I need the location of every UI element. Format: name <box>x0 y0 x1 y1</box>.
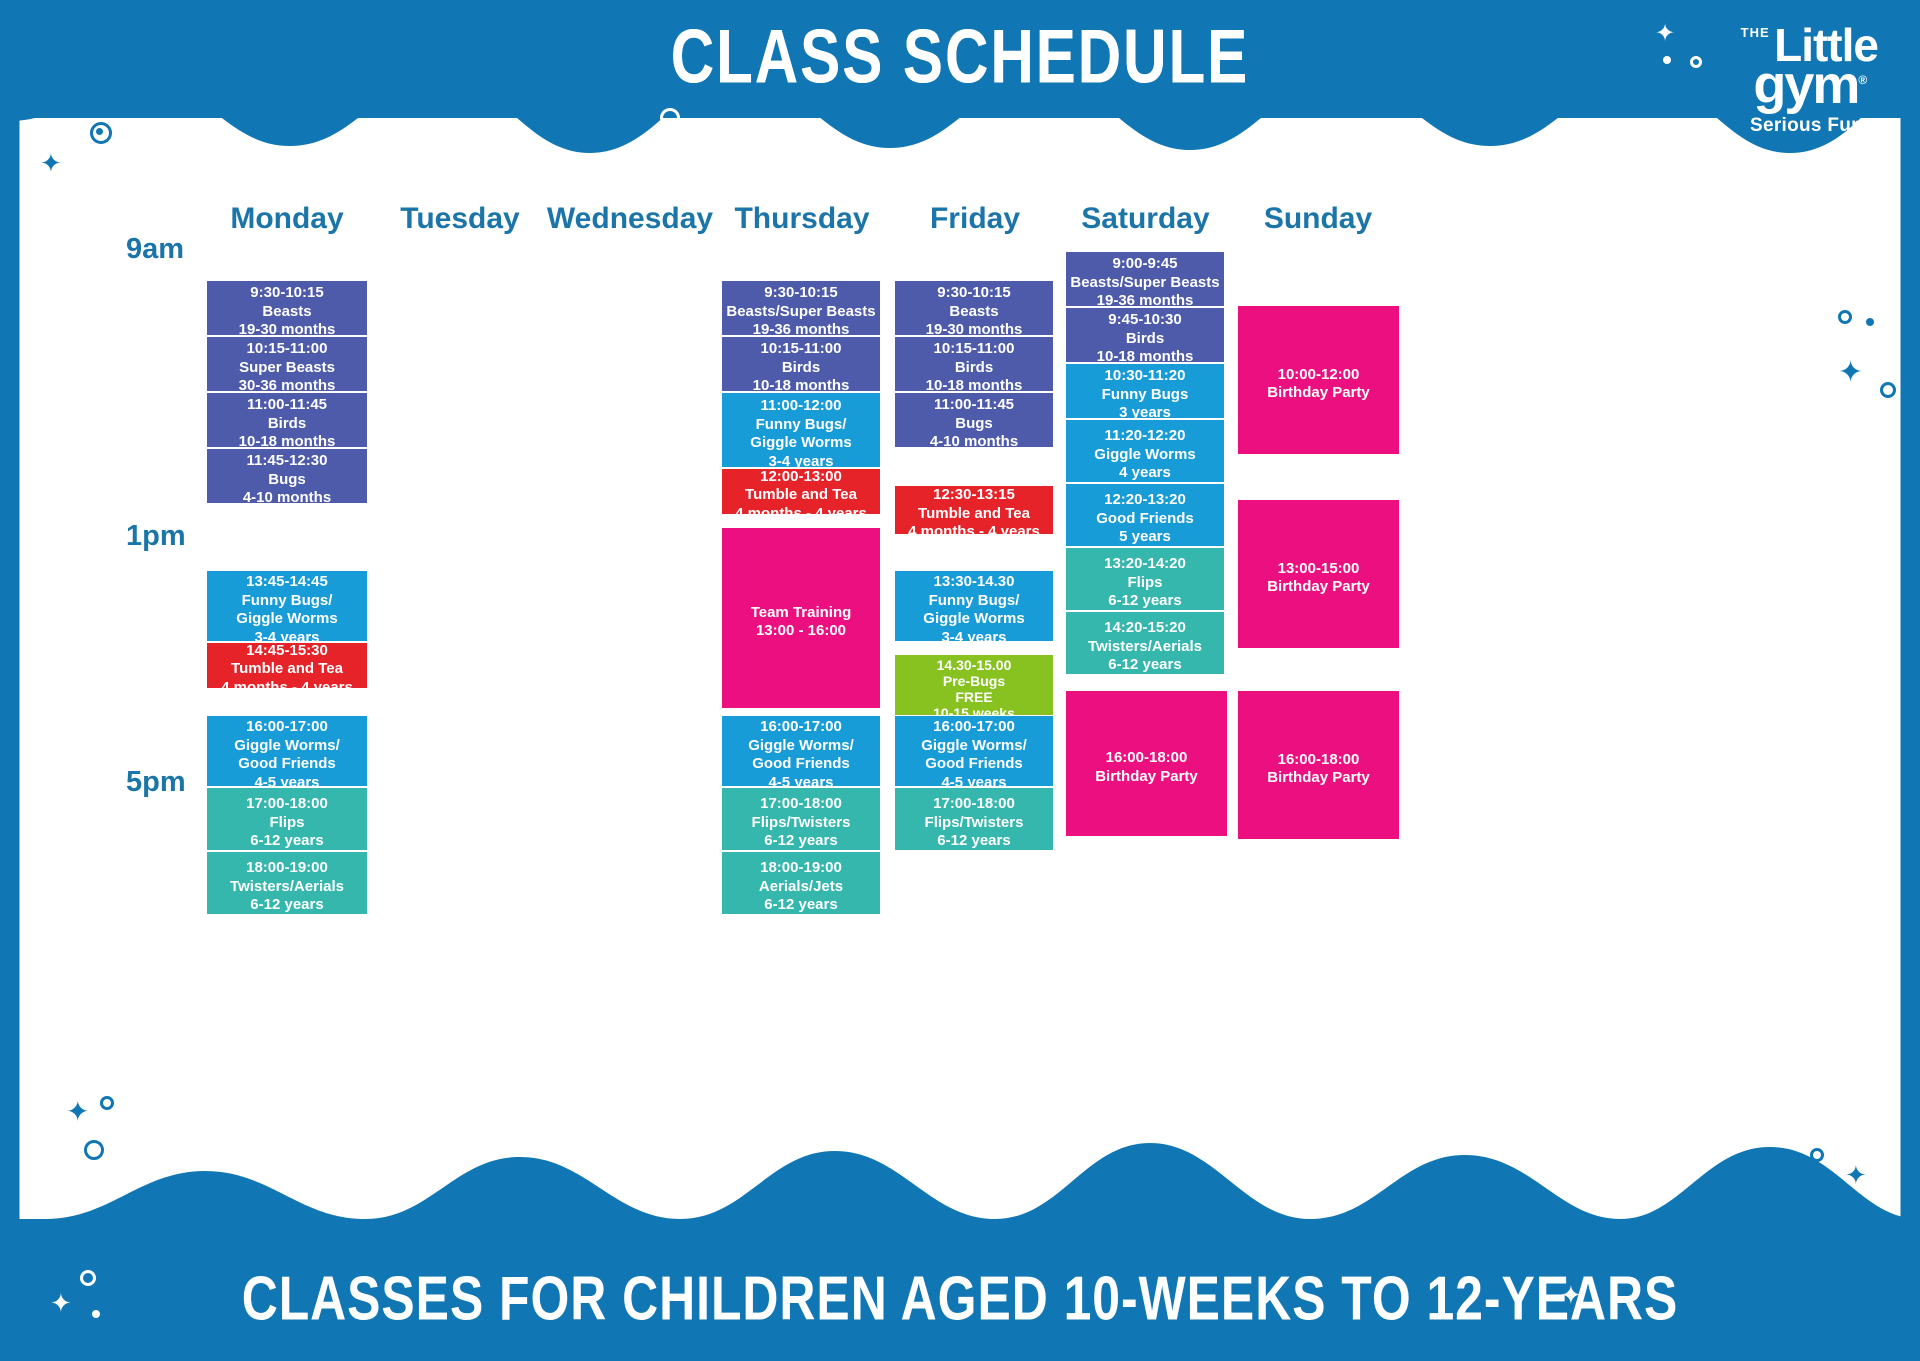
class-block[interactable]: 14.30-15.00 Pre-Bugs FREE 10-15 weeks <box>895 655 1053 715</box>
class-time: 14:20-15:20 <box>1104 619 1186 638</box>
class-name: Flips <box>269 814 304 833</box>
class-free-label: FREE <box>955 689 992 705</box>
class-time: 10:00-12:00 <box>1278 366 1360 385</box>
class-block[interactable]: 17:00-18:00 Flips 6-12 years <box>207 788 367 850</box>
little-gym-logo: THE Little gym® Serious Fun. <box>1741 22 1878 135</box>
class-time: 10:15-11:00 <box>934 340 1015 359</box>
class-block[interactable]: 13:20-14:20 Flips 6-12 years <box>1066 548 1224 610</box>
class-time: 16:00-17:00 <box>760 718 842 737</box>
class-block[interactable]: 12:00-13:00 Tumble and Tea 4 months - 4 … <box>722 469 880 514</box>
class-name: Beasts/Super Beasts <box>726 303 875 322</box>
class-block[interactable]: 10:30-11:20 Funny Bugs 3 years <box>1066 364 1224 418</box>
day-header-saturday: Saturday <box>1058 202 1233 236</box>
class-time: 16:00-17:00 <box>933 718 1015 737</box>
class-block[interactable]: 16:00-17:00 Giggle Worms/ Good Friends 4… <box>722 716 880 786</box>
class-time: 11:00-11:45 <box>934 396 1014 415</box>
class-time: 9:30-10:15 <box>250 284 323 303</box>
class-time: 13:45-14:45 <box>246 573 328 592</box>
class-ages: 19-36 months <box>1097 292 1194 306</box>
class-ages: 10-18 months <box>753 377 850 391</box>
class-block[interactable]: 11:20-12:20 Giggle Worms 4 years <box>1066 420 1224 482</box>
class-name-2: Good Friends <box>752 755 850 774</box>
day-header-friday: Friday <box>895 202 1055 236</box>
class-name: Good Friends <box>1096 510 1194 529</box>
class-time: 14.30-15.00 <box>937 657 1012 673</box>
class-name: Giggle Worms/ <box>748 737 854 756</box>
class-name: Tumble and Tea <box>231 660 343 679</box>
class-ages: 4 years <box>1119 464 1171 482</box>
day-header-sunday: Sunday <box>1238 202 1398 236</box>
birthday-party-block[interactable]: 16:00-18:00 Birthday Party <box>1066 691 1227 836</box>
class-name: Twisters/Aerials <box>230 878 344 897</box>
class-ages: 6-12 years <box>250 832 323 850</box>
class-block[interactable]: 10:15-11:00 Birds 10-18 months <box>722 337 880 391</box>
class-name: Beasts/Super Beasts <box>1070 274 1219 293</box>
class-ages: 19-30 months <box>239 321 336 335</box>
class-time: 13:30-14.30 <box>934 573 1015 592</box>
class-ages: 4-5 years <box>254 774 319 787</box>
class-ages: 5 years <box>1119 528 1171 546</box>
class-name: Birds <box>268 415 306 434</box>
class-name: Tumble and Tea <box>918 505 1030 524</box>
class-time: 13:00 - 16:00 <box>756 622 846 641</box>
class-time: 16:00-18:00 <box>1278 751 1360 770</box>
class-name: Birthday Party <box>1267 769 1370 788</box>
class-name: Birds <box>1126 330 1164 349</box>
class-time: 16:00-18:00 <box>1106 749 1188 768</box>
class-ages: 6-12 years <box>937 832 1010 850</box>
logo-tagline: Serious Fun. <box>1741 116 1878 135</box>
class-name: Giggle Worms/ <box>921 737 1027 756</box>
class-time: 17:00-18:00 <box>246 795 328 814</box>
class-ages: 3-4 years <box>254 629 319 642</box>
class-name-2: Good Friends <box>925 755 1023 774</box>
class-ages: 6-12 years <box>764 896 837 914</box>
class-name: Pre-Bugs <box>943 673 1005 689</box>
class-name: Birthday Party <box>1095 768 1198 787</box>
class-name: Birthday Party <box>1267 578 1370 597</box>
class-time: 17:00-18:00 <box>933 795 1015 814</box>
class-time: 10:30-11:20 <box>1105 367 1186 386</box>
class-ages: 4 months - 4 years <box>735 505 867 514</box>
class-block[interactable]: 12:30-13:15 Tumble and Tea 4 months - 4 … <box>895 486 1053 534</box>
footer-banner-text: CLASSES FOR CHILDREN AGED 10-WEEKS TO 12… <box>38 1263 1881 1335</box>
class-time: 11:20-12:20 <box>1105 427 1186 446</box>
class-ages: 6-12 years <box>1108 592 1181 610</box>
day-header-wednesday: Wednesday <box>540 202 720 236</box>
class-block[interactable]: 9:45-10:30 Birds 10-18 months <box>1066 308 1224 362</box>
class-name: Bugs <box>268 471 306 490</box>
class-time: 12:20-13:20 <box>1104 491 1186 510</box>
class-block[interactable]: 9:30-10:15 Beasts/Super Beasts 19-36 mon… <box>722 281 880 335</box>
class-ages: 10-18 months <box>1097 348 1194 362</box>
class-time: 11:00-11:45 <box>247 396 327 415</box>
class-block[interactable]: 10:15-11:00 Birds 10-18 months <box>895 337 1053 391</box>
birthday-party-block[interactable]: 10:00-12:00 Birthday Party <box>1238 306 1399 454</box>
class-block[interactable]: 14:20-15:20 Twisters/Aerials 6-12 years <box>1066 612 1224 674</box>
class-time: 9:30-10:15 <box>937 284 1010 303</box>
class-time: 9:30-10:15 <box>764 284 837 303</box>
class-name: Super Beasts <box>239 359 335 378</box>
class-name: Birthday Party <box>1267 384 1370 403</box>
time-marker-1pm: 1pm <box>126 520 246 553</box>
class-name-2: Good Friends <box>238 755 336 774</box>
class-block[interactable]: 9:30-10:15 Beasts 19-30 months <box>207 281 367 335</box>
class-name: Beasts <box>262 303 311 322</box>
schedule-sheet: Monday Tuesday Wednesday Thursday Friday… <box>0 118 1920 1208</box>
class-block[interactable]: 18:00-19:00 Aerials/Jets 6-12 years <box>722 852 880 914</box>
time-marker-9am: 9am <box>126 233 246 266</box>
class-ages: 4-5 years <box>768 774 833 787</box>
class-time: 9:00-9:45 <box>1112 255 1177 274</box>
day-header-tuesday: Tuesday <box>380 202 540 236</box>
class-ages: 4-10 months <box>930 433 1018 447</box>
class-block[interactable]: 16:00-17:00 Giggle Worms/ Good Friends 4… <box>207 716 367 786</box>
class-name: Birds <box>782 359 820 378</box>
page-title: CLASS SCHEDULE <box>29 14 1891 101</box>
class-name: Birds <box>955 359 993 378</box>
class-time: 14:45-15:30 <box>246 643 328 660</box>
class-time: 11:00-12:00 <box>761 397 842 416</box>
class-time: 13:20-14:20 <box>1104 555 1186 574</box>
class-ages: 6-12 years <box>250 896 323 914</box>
class-ages: 10-18 months <box>239 433 336 447</box>
class-name: Twisters/Aerials <box>1088 638 1202 657</box>
class-name: Funny Bugs/ <box>242 592 333 611</box>
class-ages: 3 years <box>1119 404 1171 418</box>
class-ages: 6-12 years <box>1108 656 1181 674</box>
class-ages: 4-10 months <box>243 489 331 503</box>
class-time: 17:00-18:00 <box>760 795 842 814</box>
class-ages: 10-15 weeks <box>933 705 1015 715</box>
logo-gym: gym <box>1753 55 1858 115</box>
class-time: 12:30-13:15 <box>933 486 1015 505</box>
class-name: Funny Bugs <box>1102 386 1189 405</box>
class-block[interactable]: 16:00-17:00 Giggle Worms/ Good Friends 4… <box>895 716 1053 786</box>
class-name: Flips/Twisters <box>752 814 851 833</box>
class-ages: 30-36 months <box>239 377 336 391</box>
class-block[interactable]: 9:30-10:15 Beasts 19-30 months <box>895 281 1053 335</box>
class-ages: 4 months - 4 years <box>908 523 1040 534</box>
class-ages: 6-12 years <box>764 832 837 850</box>
class-block[interactable]: 11:45-12:30 Bugs 4-10 months <box>207 449 367 503</box>
class-block[interactable]: 17:00-18:00 Flips/Twisters 6-12 years <box>722 788 880 850</box>
class-name: Giggle Worms/ <box>234 737 340 756</box>
class-block[interactable]: 13:30-14.30 Funny Bugs/ Giggle Worms 3-4… <box>895 571 1053 641</box>
class-block[interactable]: 9:00-9:45 Beasts/Super Beasts 19-36 mont… <box>1066 252 1224 306</box>
class-ages: 4-5 years <box>941 774 1006 787</box>
day-header-monday: Monday <box>207 202 367 236</box>
birthday-party-block[interactable]: 16:00-18:00 Birthday Party <box>1238 691 1399 839</box>
class-time: 12:00-13:00 <box>760 469 842 486</box>
class-block[interactable]: 17:00-18:00 Flips/Twisters 6-12 years <box>895 788 1053 850</box>
class-name: Tumble and Tea <box>745 486 857 505</box>
class-ages: 19-30 months <box>926 321 1023 335</box>
class-time: 13:00-15:00 <box>1278 560 1360 579</box>
class-name: Funny Bugs/ <box>756 416 847 435</box>
class-block[interactable]: 12:20-13:20 Good Friends 5 years <box>1066 484 1224 546</box>
class-time: 11:45-12:30 <box>247 452 328 471</box>
class-name: Beasts <box>949 303 998 322</box>
class-time: 10:15-11:00 <box>761 340 842 359</box>
class-name-2: Giggle Worms <box>236 610 337 629</box>
birthday-party-block[interactable]: 13:00-15:00 Birthday Party <box>1238 500 1399 648</box>
class-block[interactable]: 13:45-14:45 Funny Bugs/ Giggle Worms 3-4… <box>207 571 367 641</box>
class-block[interactable]: 18:00-19:00 Twisters/Aerials 6-12 years <box>207 852 367 914</box>
class-ages: 19-36 months <box>753 321 850 335</box>
class-ages: 10-18 months <box>926 377 1023 391</box>
class-block[interactable]: 11:00-11:45 Birds 10-18 months <box>207 393 367 447</box>
class-name: Aerials/Jets <box>759 878 843 897</box>
class-block[interactable]: 14:45-15:30 Tumble and Tea 4 months - 4 … <box>207 643 367 688</box>
logo-the: THE <box>1741 26 1770 39</box>
class-name-2: Giggle Worms <box>923 610 1024 629</box>
class-name: Flips <box>1127 574 1162 593</box>
class-block[interactable]: 11:00-12:00 Funny Bugs/ Giggle Worms 3-4… <box>722 393 880 467</box>
class-name: Team Training <box>751 604 852 623</box>
logo-registered-mark: ® <box>1858 73 1865 87</box>
class-time: 9:45-10:30 <box>1108 311 1181 330</box>
class-name: Bugs <box>955 415 993 434</box>
class-ages: 3-4 years <box>941 629 1006 642</box>
class-ages: 4 months - 4 years <box>221 679 353 688</box>
class-time: 18:00-19:00 <box>760 859 842 878</box>
class-block[interactable]: 10:15-11:00 Super Beasts 30-36 months <box>207 337 367 391</box>
class-ages: 3-4 years <box>768 453 833 468</box>
class-time: 16:00-17:00 <box>246 718 328 737</box>
class-time: 18:00-19:00 <box>246 859 328 878</box>
class-block[interactable]: 11:00-11:45 Bugs 4-10 months <box>895 393 1053 447</box>
class-name: Funny Bugs/ <box>929 592 1020 611</box>
class-time: 10:15-11:00 <box>247 340 328 359</box>
class-name-2: Giggle Worms <box>750 434 851 453</box>
day-header-thursday: Thursday <box>722 202 882 236</box>
class-name: Flips/Twisters <box>925 814 1024 833</box>
team-training-block[interactable]: Team Training 13:00 - 16:00 <box>722 528 880 708</box>
class-name: Giggle Worms <box>1094 446 1195 465</box>
